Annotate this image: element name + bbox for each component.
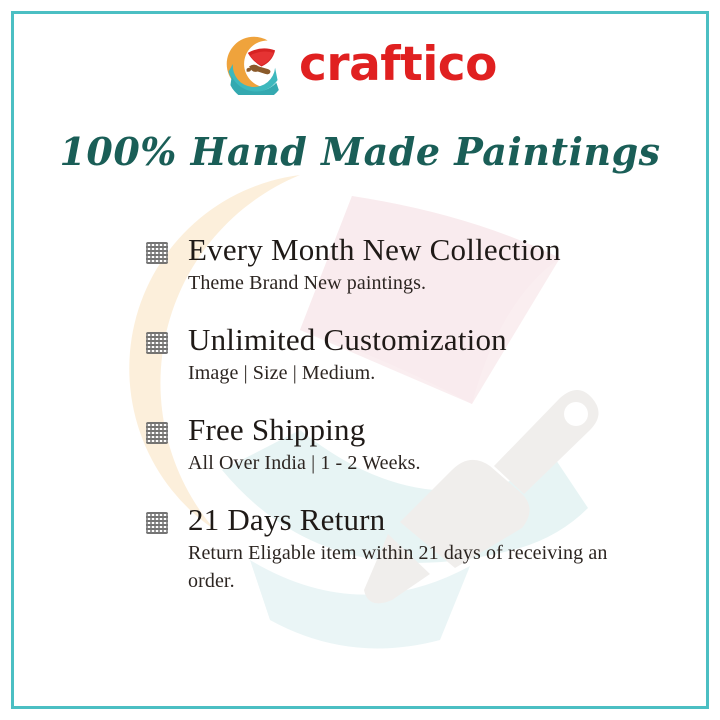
promo-banner: craftico 100% Hand Made Paintings Every …	[0, 0, 720, 720]
feature-title: Free Shipping	[188, 413, 646, 448]
feature-title: Every Month New Collection	[188, 233, 646, 268]
list-item: Every Month New Collection Theme Brand N…	[146, 233, 646, 297]
brand-name: craftico	[299, 41, 497, 88]
craftico-c-brush-logo-icon	[223, 33, 285, 95]
feature-list: Every Month New Collection Theme Brand N…	[146, 233, 646, 596]
feature-title: Unlimited Customization	[188, 323, 646, 358]
list-item: 21 Days Return Return Eligable item with…	[146, 503, 646, 596]
woven-mesh-square-icon	[146, 512, 168, 534]
woven-mesh-square-icon	[146, 242, 168, 264]
feature-description: Image | Size | Medium.	[188, 359, 646, 387]
list-item: Unlimited Customization Image | Size | M…	[146, 323, 646, 387]
feature-description: All Over India | 1 - 2 Weeks.	[188, 449, 646, 477]
woven-mesh-square-icon	[146, 332, 168, 354]
feature-title: 21 Days Return	[188, 503, 646, 538]
list-item: Free Shipping All Over India | 1 - 2 Wee…	[146, 413, 646, 477]
feature-description: Return Eligable item within 21 days of r…	[188, 539, 646, 596]
banner-content: craftico 100% Hand Made Paintings Every …	[0, 0, 720, 720]
headline: 100% Hand Made Paintings	[0, 131, 720, 173]
feature-description: Theme Brand New paintings.	[188, 269, 646, 297]
woven-mesh-square-icon	[146, 422, 168, 444]
brand-logo-lockup: craftico	[0, 33, 720, 95]
